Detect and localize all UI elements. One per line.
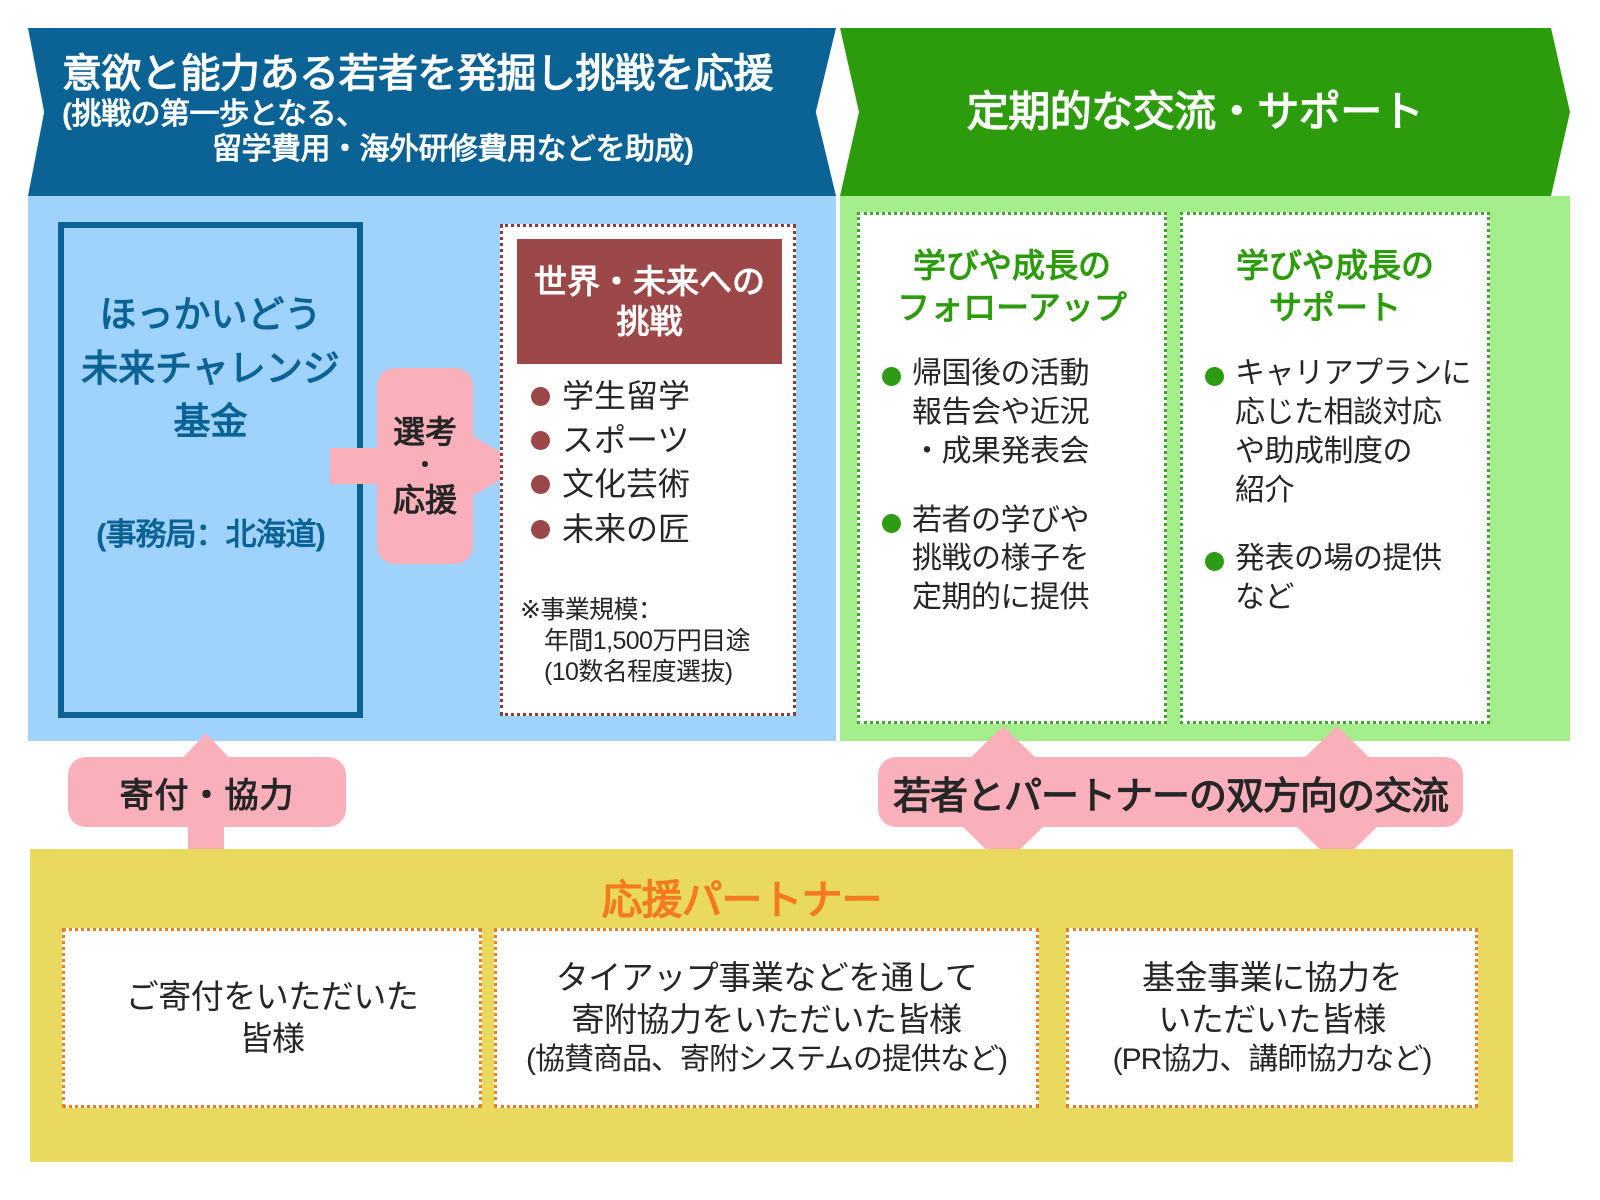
header-blue-subline-1: (挑戦の第一歩となる、 [62,97,366,132]
partner-card-cooperation: 基金事業に協力を いただいた皆様 (PR協力、講師協力など) [1066,928,1478,1108]
exchange-label-text: 若者とパートナーの双方向の交流 [893,765,1448,820]
list-item: 文化芸術 [531,467,793,502]
bullet-dot-icon [531,520,550,539]
list-item: スポーツ [531,423,793,458]
support-card-title-line-1: 学びや成長の [1183,245,1487,287]
list-item: 学生留学 [531,379,793,414]
partner-card-line-1: ご寄付をいただいた [126,976,419,1018]
donation-label-text: 寄付・協力 [120,768,295,817]
fund-name-line-3: 基金 [174,395,248,449]
support-bullet-text: キャリアプランに 応じた相談対応 や助成制度の 紹介 [1235,355,1471,510]
challenge-category-list: 学生留学 スポーツ 文化芸術 未来の匠 [531,379,793,556]
bullet-dot-icon [531,387,550,406]
partner-section-title: 応援パートナー [0,866,1483,926]
header-banner-green: 定期的な交流・サポート [840,28,1570,196]
support-card-followup: 学びや成長の フォローアップ 帰国後の活動 報告会や近況 ・成果発表会 若者の学… [857,212,1167,724]
bullet-dot-icon [531,431,550,450]
bullet-dot-icon [531,475,550,494]
partner-card-line-1: 基金事業に協力を [1142,957,1402,999]
partner-card-line-3: (協賛商品、寄附システムの提供など) [526,1041,1007,1079]
challenge-scale-note: ※事業規模： 年間1,500万円目途 (10数名程度選抜) [520,595,798,688]
support-bullet-list: 帰国後の活動 報告会や近況 ・成果発表会 若者の学びや 挑戦の様子を 定期的に提… [860,355,1164,617]
donation-label-tag: 寄付・協力 [68,757,346,827]
header-green-title: 定期的な交流・サポート [840,88,1570,135]
challenge-note-line-3: (10数名程度選抜) [520,657,798,688]
list-item: 未来の匠 [531,512,793,547]
challenge-note-line-2: 年間1,500万円目途 [520,626,798,657]
challenge-item-label: 未来の匠 [562,512,690,547]
diagram-canvas: 意欲と能力ある若者を発掘し挑戦を応援 (挑戦の第一歩となる、 留学費用・海外研修… [0,0,1600,1200]
partner-card-line-2: 皆様 [240,1018,305,1060]
fund-name-line-1: ほっかいどう [100,288,322,342]
list-item: 若者の学びや 挑戦の様子を 定期的に提供 [882,502,1152,618]
selection-label-line-2: 応援 [393,480,457,520]
bullet-dot-icon [882,367,901,386]
support-card-title-line-2: サポート [1183,287,1487,329]
list-item: キャリアプランに 応じた相談対応 や助成制度の 紹介 [1205,355,1475,510]
bullet-dot-icon [882,514,901,533]
selection-label-line-1: 選考 [393,412,457,452]
challenge-item-label: 学生留学 [562,379,690,414]
challenge-item-label: スポーツ [562,423,689,458]
exchange-label-tag: 若者とパートナーの双方向の交流 [878,757,1463,827]
partner-card-tieup: タイアップ事業などを通して 寄附協力をいただいた皆様 (協賛商品、寄附システムの… [494,928,1039,1108]
list-item: 帰国後の活動 報告会や近況 ・成果発表会 [882,355,1152,471]
header-banner-blue: 意欲と能力ある若者を発掘し挑戦を応援 (挑戦の第一歩となる、 留学費用・海外研修… [28,28,836,196]
bullet-dot-icon [1205,552,1224,571]
challenge-box: 世界・未来への 挑戦 学生留学 スポーツ 文化芸術 未来の匠 ※事業規 [500,224,796,716]
support-card-title-line-1: 学びや成長の [860,245,1164,287]
support-bullet-text: 若者の学びや 挑戦の様子を 定期的に提供 [912,502,1089,618]
selection-label-tag: 選考 ・ 応援 [377,368,473,564]
support-card-support: 学びや成長の サポート キャリアプランに 応じた相談対応 や助成制度の 紹介 発… [1180,212,1490,724]
support-card-title: 学びや成長の サポート [1183,245,1487,329]
challenge-heading: 世界・未来への 挑戦 [517,239,782,364]
partner-card-donors: ご寄付をいただいた 皆様 [62,928,482,1108]
bullet-dot-icon [1205,367,1224,386]
support-bullet-list: キャリアプランに 応じた相談対応 や助成制度の 紹介 発表の場の提供 など [1183,355,1487,617]
challenge-heading-line-2: 挑戦 [534,302,765,342]
fund-office-label: (事務局：北海道) [96,509,325,554]
partner-card-line-2: いただいた皆様 [1158,999,1386,1041]
list-item: 発表の場の提供 など [1205,540,1475,617]
partner-card-line-1: タイアップ事業などを通して [556,957,978,999]
selection-label-dot: ・ [413,454,437,478]
fund-name-line-2: 未来チャレンジ [81,342,340,396]
partner-card-line-3: (PR協力、講師協力など) [1113,1041,1432,1079]
header-blue-title: 意欲と能力ある若者を発掘し挑戦を応援 [62,52,773,97]
challenge-item-label: 文化芸術 [562,467,690,502]
support-card-title: 学びや成長の フォローアップ [860,245,1164,329]
support-card-title-line-2: フォローアップ [860,287,1164,329]
support-bullet-text: 発表の場の提供 など [1235,540,1442,617]
header-blue-subline-2: 留学費用・海外研修費用などを助成) [62,132,694,167]
support-bullet-text: 帰国後の活動 報告会や近況 ・成果発表会 [912,355,1089,471]
fund-box: ほっかいどう 未来チャレンジ 基金 (事務局：北海道) [58,222,363,718]
challenge-note-line-1: ※事業規模： [520,596,662,624]
partner-card-line-2: 寄附協力をいただいた皆様 [572,999,962,1041]
challenge-heading-line-1: 世界・未来への [534,262,765,302]
